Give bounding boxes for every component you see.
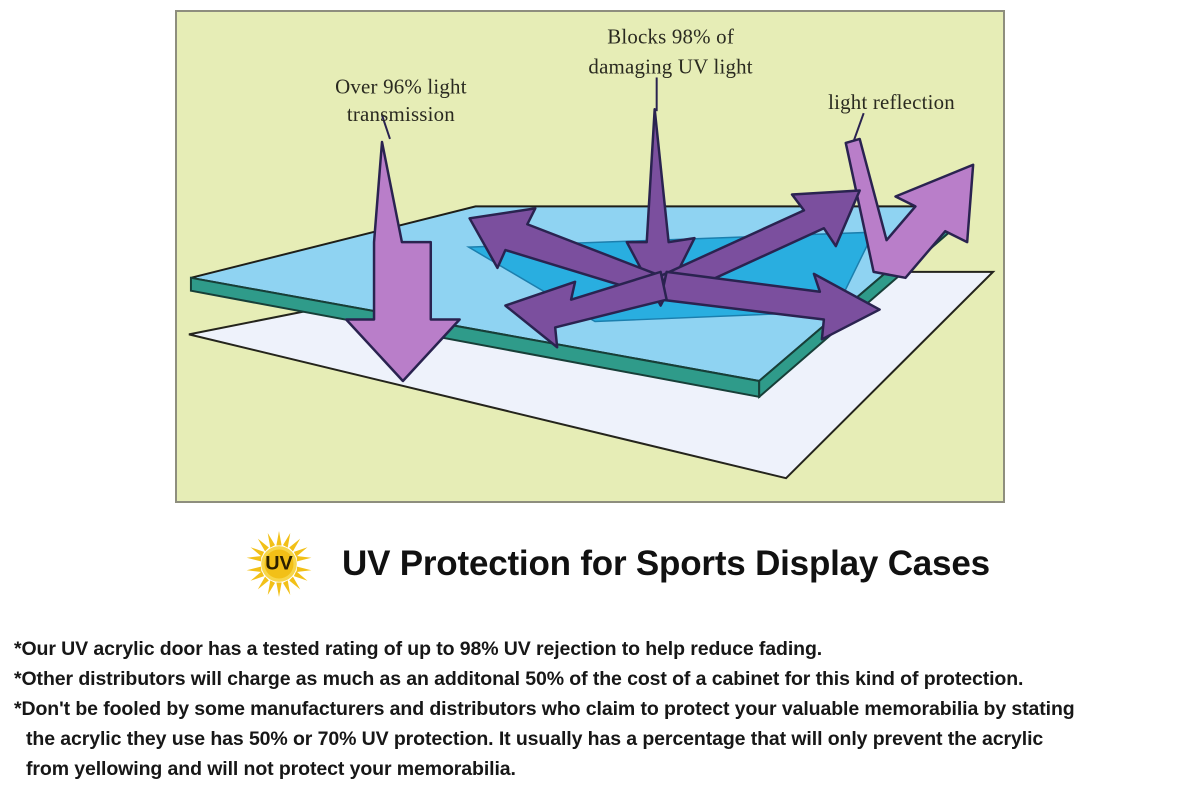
copy-line-4: the acrylic they use has 50% or 70% UV p… <box>14 724 1189 754</box>
copy-line-1: *Our UV acrylic door has a tested rating… <box>14 634 1189 664</box>
uv-protection-diagram: Over 96% light transmission Blocks 98% o… <box>177 12 1003 501</box>
reflection-pointer-line <box>854 113 864 141</box>
label-light-reflection: light reflection <box>828 90 955 114</box>
copy-line-5: from yellowing and will not protect your… <box>14 754 1189 784</box>
label-uv-block-line2: damaging UV light <box>588 55 752 79</box>
label-transmission-line1: Over 96% light <box>335 74 467 98</box>
uv-sun-icon: UV <box>246 531 312 597</box>
copy-line-3: *Don't be fooled by some manufacturers a… <box>14 694 1189 724</box>
copy-line-2: *Other distributors will charge as much … <box>14 664 1189 694</box>
sun-icon-label: UV <box>265 552 293 574</box>
label-transmission-line2: transmission <box>347 102 455 126</box>
title-row: UV UV Protection for Sports Display Case… <box>246 528 990 600</box>
diagram-panel: Over 96% light transmission Blocks 98% o… <box>175 10 1005 503</box>
page-title: UV Protection for Sports Display Cases <box>342 544 990 584</box>
label-uv-block-line1: Blocks 98% of <box>607 25 734 49</box>
body-copy: *Our UV acrylic door has a tested rating… <box>14 634 1189 784</box>
